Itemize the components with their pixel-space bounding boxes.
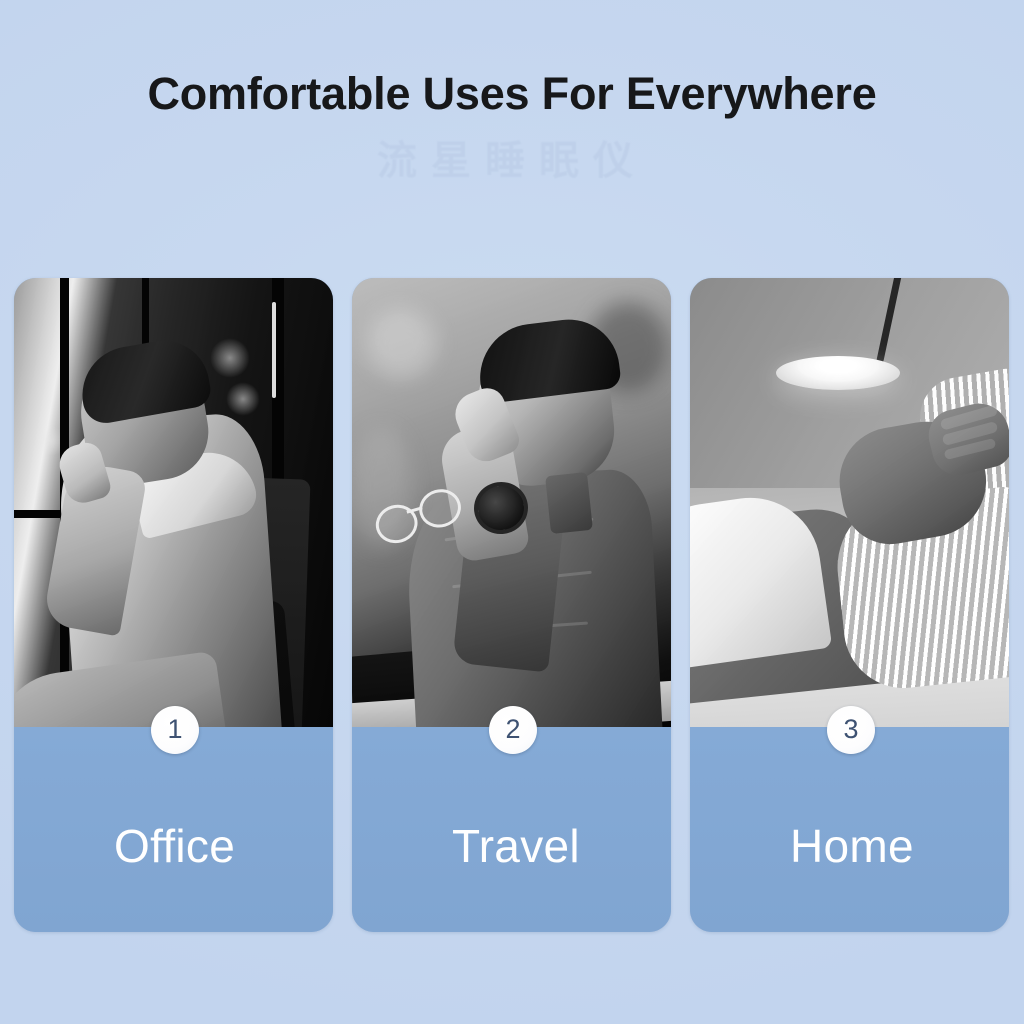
step-badge-1: 1 — [151, 706, 199, 754]
home-photo — [690, 278, 1009, 727]
use-case-card-home[interactable]: Home 3 — [690, 278, 1009, 932]
office-photo — [14, 278, 333, 727]
bedside-lamp — [776, 356, 900, 390]
use-case-card-travel[interactable]: Travel 2 — [352, 278, 671, 932]
home-label-panel: Home — [690, 727, 1009, 932]
step-badge-2-number: 2 — [489, 706, 537, 754]
office-label-panel: Office — [14, 727, 333, 932]
step-badge-3: 3 — [827, 706, 875, 754]
step-badge-3-number: 3 — [827, 706, 875, 754]
travel-label-panel: Travel — [352, 727, 671, 932]
page-title: Comfortable Uses For Everywhere — [0, 68, 1024, 120]
card-label-home: Home — [790, 819, 914, 873]
background-watermark-text: 流星睡眠仪 — [0, 128, 1024, 186]
use-case-card-office[interactable]: Office 1 — [14, 278, 333, 932]
card-label-office: Office — [114, 819, 235, 873]
promo-banner: Comfortable Uses For Everywhere 流星睡眠仪 — [0, 0, 1024, 1024]
card-label-travel: Travel — [452, 819, 580, 873]
step-badge-1-number: 1 — [151, 706, 199, 754]
travel-photo — [352, 278, 671, 727]
step-badge-2: 2 — [489, 706, 537, 754]
use-case-card-row: Office 1 — [14, 278, 1010, 932]
